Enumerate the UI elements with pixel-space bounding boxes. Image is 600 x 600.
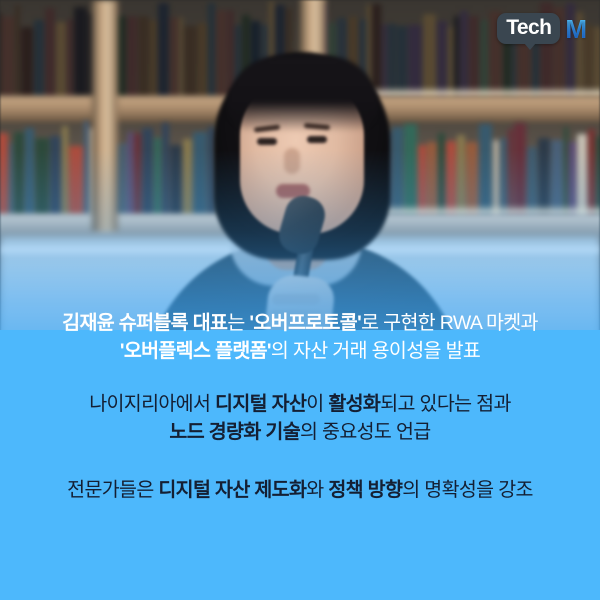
logo-speech-bubble: Tech [497,13,560,44]
caption-seg: 이 [306,393,328,415]
caption-area: 김재윤 슈퍼블록 대표는 '오버프로토콜'로 구현한 RWA 마켓과 '오버플렉… [0,310,600,510]
caption-line: '오버플렉스 플랫폼'의 자산 거래 용이성을 발표 [14,338,586,366]
speaker-fringe [228,56,378,132]
caption-seg: 와 [306,479,328,501]
caption-seg: 정책 방향 [328,479,402,501]
logo-m-mark: M [565,16,586,42]
speaker-eye-left [257,138,277,145]
caption-seg: 활성화 [328,393,380,415]
logo-text: Tech [506,16,551,39]
brand-logo[interactable]: Tech M [497,13,586,44]
caption-seg: 노드 경량화 기술 [169,421,300,443]
caption-seg: 디지털 자산 [215,393,306,415]
social-card: Tech M 김재윤 슈퍼블록 대표는 '오버프로토콜'로 구현한 RWA 마켓… [0,0,600,600]
caption-seg: 의 중요성도 언급 [300,421,431,443]
speaker-eye-right [307,136,327,143]
caption-seg: '오버프로토콜' [249,312,361,334]
caption-line: 김재윤 슈퍼블록 대표는 '오버프로토콜'로 구현한 RWA 마켓과 [14,310,586,338]
caption-seg: '오버플렉스 플랫폼' [120,340,271,362]
caption-seg: 전문가들은 [67,479,158,501]
caption-seg: 는 [227,312,249,334]
caption-seg: 되고 있다는 점과 [380,393,511,415]
caption-block-1: 김재윤 슈퍼블록 대표는 '오버프로토콜'로 구현한 RWA 마켓과 '오버플렉… [14,310,586,365]
caption-line: 전문가들은 디지털 자산 제도화와 정책 방향의 명확성을 강조 [14,477,586,505]
caption-line: 노드 경량화 기술의 중요성도 언급 [14,419,586,447]
caption-seg: 나이지리아에서 [89,393,215,415]
caption-seg: 디지털 자산 제도화 [158,479,306,501]
caption-seg: 의 자산 거래 용이성을 발표 [271,340,480,362]
caption-block-3: 전문가들은 디지털 자산 제도화와 정책 방향의 명확성을 강조 [14,477,586,505]
caption-seg: 로 구현한 RWA 마켓과 [361,312,538,334]
caption-line: 나이지리아에서 디지털 자산이 활성화되고 있다는 점과 [14,391,586,419]
caption-block-2: 나이지리아에서 디지털 자산이 활성화되고 있다는 점과 노드 경량화 기술의 … [14,391,586,446]
caption-seg: 김재윤 슈퍼블록 대표 [62,312,227,334]
caption-seg: 의 명확성을 강조 [402,479,533,501]
